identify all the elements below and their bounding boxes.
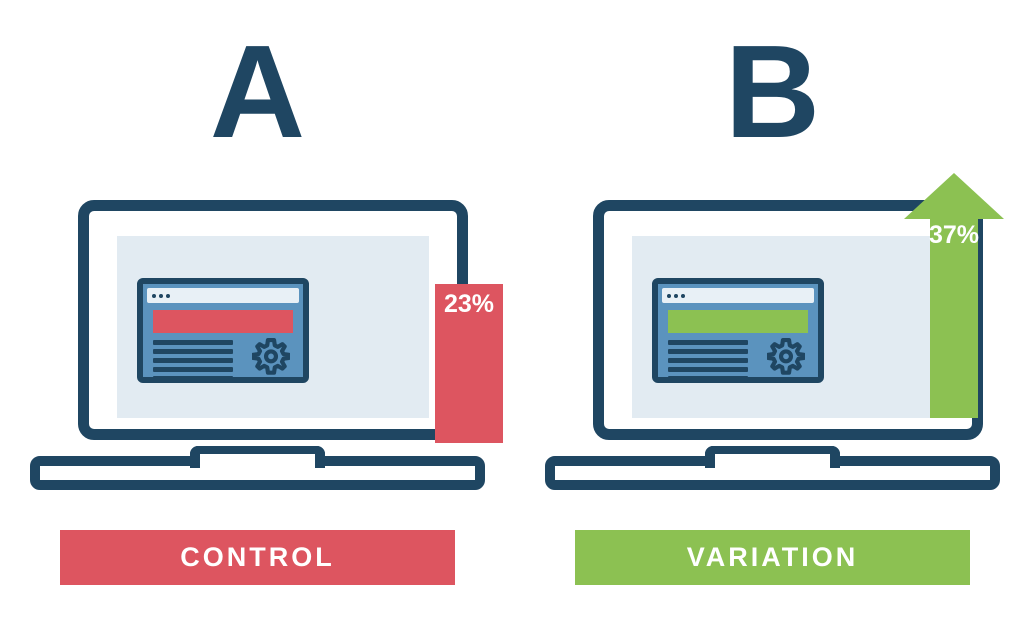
- badge-variation[interactable]: VARIATION: [575, 530, 970, 585]
- variant-a-panel: A 23%: [0, 0, 515, 627]
- content-line: [668, 367, 748, 372]
- content-line: [668, 349, 748, 354]
- window-dot-icon: [674, 294, 678, 298]
- variant-b-panel: B: [515, 0, 1030, 627]
- badge-variation-label: VARIATION: [687, 542, 859, 573]
- content-lines-b: [668, 340, 748, 385]
- content-line: [153, 358, 233, 363]
- variant-b-laptop: 37%: [545, 200, 1000, 500]
- laptop-lid-a: 23%: [78, 200, 468, 440]
- browser-titlebar-a: [147, 288, 299, 303]
- laptop-base-a: [30, 446, 485, 490]
- ab-test-illustration: A 23%: [0, 0, 1030, 627]
- laptop-lid-b: 37%: [593, 200, 983, 440]
- laptop-base-notch-fill-b: [715, 454, 830, 468]
- window-dot-icon: [681, 294, 685, 298]
- browser-window-a: [137, 278, 309, 383]
- gear-icon: [252, 337, 290, 375]
- variant-b-letter: B: [515, 26, 1030, 158]
- metric-arrow-variation: [904, 173, 1004, 418]
- content-line: [668, 358, 748, 363]
- hero-banner-a: [153, 310, 293, 333]
- content-line: [668, 340, 748, 345]
- variant-a-laptop: 23%: [30, 200, 485, 500]
- content-line: [668, 376, 748, 381]
- badge-control-label: CONTROL: [180, 542, 334, 573]
- window-dot-icon: [152, 294, 156, 298]
- laptop-screen-a: 23%: [117, 236, 429, 418]
- metric-value-variation: 37%: [904, 221, 1004, 250]
- variant-a-letter: A: [0, 26, 515, 158]
- content-line: [153, 367, 233, 372]
- content-line: [153, 349, 233, 354]
- laptop-base-notch-fill-a: [200, 454, 315, 468]
- window-dot-icon: [159, 294, 163, 298]
- window-dot-icon: [667, 294, 671, 298]
- laptop-base-b: [545, 446, 1000, 490]
- content-line: [153, 376, 233, 381]
- window-dot-icon: [166, 294, 170, 298]
- badge-control[interactable]: CONTROL: [60, 530, 455, 585]
- browser-window-b: [652, 278, 824, 383]
- browser-titlebar-b: [662, 288, 814, 303]
- hero-banner-b: [668, 310, 808, 333]
- metric-value-control: 23%: [435, 290, 503, 319]
- content-line: [153, 340, 233, 345]
- gear-icon: [767, 337, 805, 375]
- laptop-screen-b: [632, 236, 944, 418]
- content-lines-a: [153, 340, 233, 385]
